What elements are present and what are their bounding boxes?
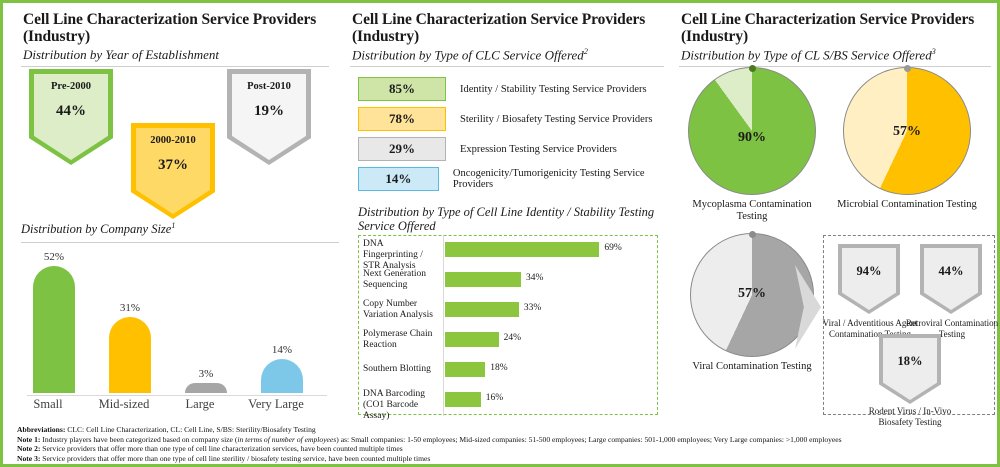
bar-label: Southern Blotting	[363, 364, 439, 375]
divider-left	[21, 66, 329, 67]
table-row: DNA Barcoding (CO1 Barcode Assay) 16%	[359, 386, 657, 416]
section-title-text: Distribution by Company Size	[21, 222, 171, 236]
footnote-label: Note 3:	[17, 454, 40, 463]
axis-divider	[443, 356, 444, 386]
shield-value: 44%	[56, 103, 86, 120]
pie-chart: 90%	[688, 67, 816, 195]
bar-value-label: 69%	[604, 243, 621, 253]
axis-label-mid-sized: Mid-sized	[84, 397, 164, 412]
footnote-note-2: Note 2: Service providers that offer mor…	[17, 444, 992, 454]
panel-subtitle-text: Distribution by Type of CLC Service Offe…	[352, 47, 584, 62]
page-title-left: Cell Line Characterization Service Provi…	[23, 11, 341, 45]
infographic-page: Cell Line Characterization Service Provi…	[0, 0, 1000, 467]
bar-copy-number-variation	[445, 302, 519, 317]
footnote-marker: 2	[584, 47, 588, 56]
legend-value: 29%	[358, 137, 446, 161]
bar-pcr	[445, 332, 499, 347]
bar-group-mid-sized: 31%	[109, 302, 151, 393]
axis-label-small: Small	[8, 397, 88, 412]
bar-value-label: 18%	[490, 363, 507, 373]
pie-value: 57%	[844, 124, 970, 140]
shield-value: 44%	[920, 264, 982, 279]
shield-label: 2000-2010	[150, 135, 196, 146]
shield-label: Pre-2000	[51, 81, 91, 92]
panel-subtitle-text: Distribution by Type of CL S/BS Service …	[681, 47, 932, 62]
footnotes: Abbreviations: CLC: Cell Line Characteri…	[17, 425, 992, 463]
footnote-abbreviations: Abbreviations: CLC: Cell Line Characteri…	[17, 425, 992, 435]
page-title-right: Cell Line Characterization Service Provi…	[681, 11, 997, 45]
table-row: DNA Fingerprinting / STR Analysis 69%	[359, 236, 657, 266]
shield-inner	[842, 248, 896, 310]
table-row: Polymerase Chain Reaction 24%	[359, 326, 657, 356]
axis-divider	[443, 296, 444, 326]
axis-label-very-large: Very Large	[236, 397, 316, 412]
legend-value: 85%	[358, 77, 446, 101]
viral-breakdown-box: 94% Viral / Adventitious Agent Contamina…	[823, 235, 995, 415]
pie-start-dot	[904, 65, 911, 72]
footnote-label: Abbreviations:	[17, 425, 65, 434]
table-row: Copy Number Variation Analysis 33%	[359, 296, 657, 326]
panel-middle: Cell Line Characterization Service Provi…	[348, 3, 668, 423]
footnote-note-1: Note 1: Industry players have been categ…	[17, 435, 992, 445]
bar-label: Copy Number Variation Analysis	[363, 299, 439, 321]
shield-value: 19%	[254, 103, 284, 120]
bar-group-small: 52%	[33, 251, 75, 393]
shield-pre-2000: Pre-2000 44%	[29, 69, 113, 165]
x-axis-line	[27, 395, 327, 396]
legend-item-oncogenicity[interactable]: 14% Oncogenicity/Tumorigenicity Testing …	[358, 167, 668, 191]
legend-value: 14%	[358, 167, 439, 191]
shield-value: 37%	[158, 157, 188, 174]
legend-item-sterility-biosafety[interactable]: 78% Sterility / Biosafety Testing Servic…	[358, 107, 668, 131]
legend-item-identity-stability[interactable]: 85% Identity / Stability Testing Service…	[358, 77, 668, 101]
bar-value-label: 14%	[261, 344, 303, 356]
bar-southern-blotting	[445, 362, 485, 377]
pie-value: 57%	[691, 286, 813, 302]
bar-value-label: 16%	[486, 393, 503, 403]
shield-post-2010: Post-2010 19%	[227, 69, 311, 165]
shield-viral-adventitious	[838, 244, 900, 314]
bar-value-label: 34%	[526, 273, 543, 283]
panel-subtitle-right: Distribution by Type of CL S/BS Service …	[681, 47, 997, 63]
pie-chart: 57%	[843, 67, 971, 195]
legend-item-expression[interactable]: 29% Expression Testing Service Providers	[358, 137, 668, 161]
legend-value: 78%	[358, 107, 446, 131]
section-title-company-size: Distribution by Company Size1	[21, 221, 175, 237]
axis-divider	[443, 326, 444, 356]
bar-label: DNA Barcoding (CO1 Barcode Assay)	[363, 389, 439, 422]
legend-label: Oncogenicity/Tumorigenicity Testing Serv…	[453, 168, 668, 190]
pie-caption: Microbial Contamination Testing	[827, 199, 987, 211]
axis-divider	[443, 386, 444, 416]
bar-small	[33, 266, 75, 393]
bar-value-label: 24%	[504, 333, 521, 343]
bar-value-label: 3%	[185, 368, 227, 380]
identity-stability-bar-chart: DNA Fingerprinting / STR Analysis 69% Ne…	[358, 235, 658, 415]
axis-label-large: Large	[160, 397, 240, 412]
bar-label: Next Generation Sequencing	[363, 269, 439, 291]
table-row: Southern Blotting 18%	[359, 356, 657, 386]
footnote-label: Note 2:	[17, 444, 40, 453]
footnote-text: Service providers that offer more than o…	[40, 454, 430, 463]
pie-caption: Mycoplasma Contamination Testing	[685, 199, 819, 223]
bar-dna-barcoding	[445, 392, 481, 407]
footnote-text-a: Industry players have been categorized b…	[40, 435, 237, 444]
pie-chart: 57%	[690, 233, 814, 357]
shield-value: 18%	[879, 354, 941, 369]
panel-subtitle-left: Distribution by Year of Establishment	[23, 47, 341, 63]
panel-left: Cell Line Characterization Service Provi…	[11, 3, 341, 423]
shield-value: 94%	[838, 264, 900, 279]
footnote-text: CLC: Cell Line Characterization, CL: Cel…	[65, 425, 315, 434]
bar-label: Polymerase Chain Reaction	[363, 329, 439, 351]
shield-label: Post-2010	[247, 81, 291, 92]
page-title-middle: Cell Line Characterization Service Provi…	[352, 11, 668, 45]
bar-large	[185, 383, 227, 393]
pie-start-dot	[749, 231, 756, 238]
footnote-note-3: Note 3: Service providers that offer mor…	[17, 454, 992, 464]
bar-very-large	[261, 359, 303, 393]
bar-value-label: 52%	[33, 251, 75, 263]
bar-group-large: 3%	[185, 368, 227, 393]
pie-caption: Viral Contamination Testing	[683, 361, 821, 373]
panel-subtitle-middle: Distribution by Type of CLC Service Offe…	[352, 47, 668, 63]
shield-inner	[924, 248, 978, 310]
bar-group-very-large: 14%	[261, 344, 303, 393]
shield-rodent-virus	[879, 334, 941, 404]
shield-caption: Rodent Virus / In-Vivo Biosafety Testing	[858, 406, 962, 427]
footnote-marker: 1	[171, 221, 175, 230]
table-row: Next Generation Sequencing 34%	[359, 266, 657, 296]
bar-dna-fingerprinting	[445, 242, 599, 257]
pie-microbial: 57% Microbial Contamination Testing	[827, 67, 987, 211]
section-title-identity-stability: Distribution by Type of Cell Line Identi…	[358, 205, 658, 233]
clc-service-legend: 85% Identity / Stability Testing Service…	[348, 77, 668, 191]
shield-retroviral	[920, 244, 982, 314]
shield-2000-2010: 2000-2010 37%	[131, 123, 215, 219]
pie-viral: 57% Viral Contamination Testing	[683, 233, 821, 373]
pie-value: 90%	[689, 130, 815, 146]
panel-right: Cell Line Characterization Service Provi…	[675, 3, 997, 423]
divider-middle	[350, 66, 664, 67]
shield-inner	[883, 338, 937, 400]
pie-start-dot	[749, 65, 756, 72]
bar-mid-sized	[109, 317, 151, 393]
bar-ngs	[445, 272, 521, 287]
footnote-text-italic: in terms of number of employees	[237, 435, 336, 444]
company-size-bar-chart: 52% 31% 3% 14%	[27, 243, 327, 393]
legend-label: Sterility / Biosafety Testing Service Pr…	[460, 114, 652, 125]
pie-mycoplasma: 90% Mycoplasma Contamination Testing	[685, 67, 819, 223]
bar-value-label: 31%	[109, 302, 151, 314]
footnote-text-b: ) as: Small companies: 1-50 employees; M…	[336, 435, 841, 444]
axis-divider	[443, 236, 444, 266]
bar-value-label: 33%	[524, 303, 541, 313]
footnote-marker: 3	[932, 47, 936, 56]
footnote-label: Note 1:	[17, 435, 40, 444]
legend-label: Expression Testing Service Providers	[460, 144, 617, 155]
footnote-text: Service providers that offer more than o…	[40, 444, 402, 453]
axis-divider	[443, 266, 444, 296]
legend-label: Identity / Stability Testing Service Pro…	[460, 84, 647, 95]
